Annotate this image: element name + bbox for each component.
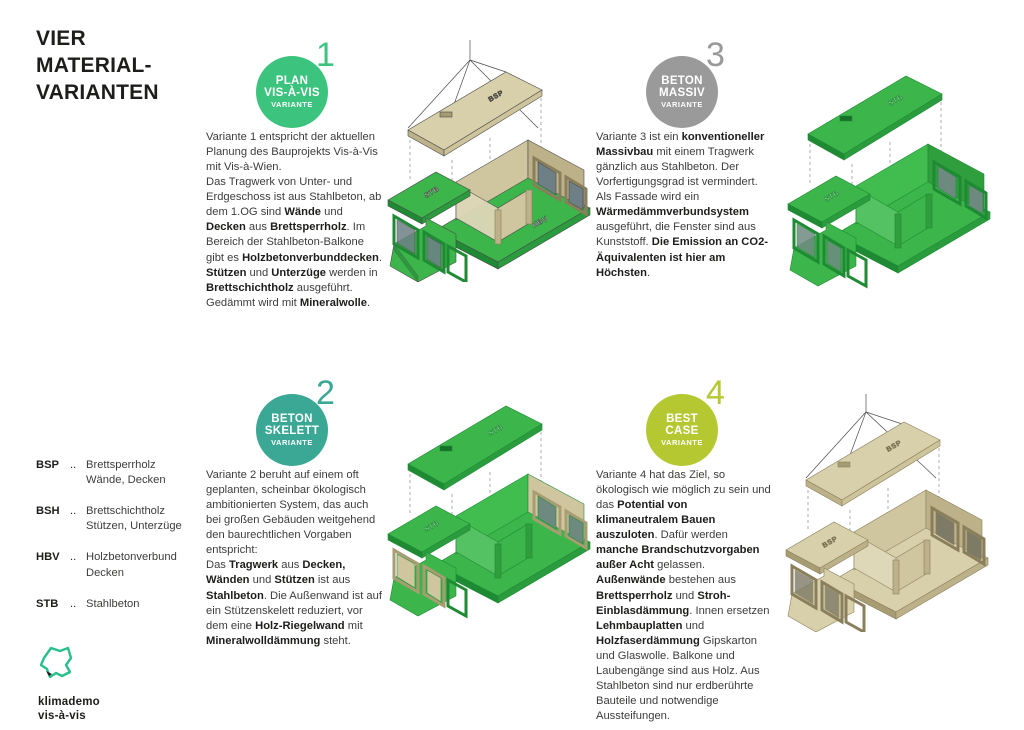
legend-row: BSH .. Brettschichtholz Stützen, Unterzü…: [36, 504, 216, 534]
legend-desc: Holzbetonverbund Decken: [86, 550, 177, 580]
variant-number-2: 2: [316, 376, 335, 410]
infographic-page: VIER MATERIAL- VARIANTEN PLAN VIS-À-VIS …: [0, 0, 1024, 730]
paragraph: Variante 2 beruht auf einem oft geplante…: [206, 468, 382, 558]
variant-number-4: 4: [706, 376, 725, 410]
legend-row: STB .. Stahlbeton: [36, 597, 216, 612]
paragraph: Variante 1 entspricht der aktuellen Plan…: [206, 130, 382, 175]
isometric-drawing-variant-3: STB: [778, 72, 1018, 292]
logo[interactable]: klimademo vis-à-vis: [38, 645, 178, 724]
badge-line2: CASE: [665, 425, 698, 437]
variant-number-1: 1: [316, 38, 335, 72]
legend-abbr: STB: [36, 597, 70, 612]
isometric-drawing-variant-2: STB: [378, 402, 618, 622]
variant-text-1: Variante 1 entspricht der aktuellen Plan…: [206, 130, 382, 311]
badge-line1: BEST: [666, 413, 698, 425]
legend-dots: ..: [70, 458, 86, 488]
legend-row: HBV .. Holzbetonverbund Decken: [36, 550, 216, 580]
legend-abbr: BSH: [36, 504, 70, 534]
badge-line3: VARIANTE: [271, 439, 313, 447]
badge-line3: VARIANTE: [661, 101, 703, 109]
variant-text-2: Variante 2 beruht auf einem oft geplante…: [206, 468, 382, 649]
variant-number-3: 3: [706, 38, 725, 72]
isometric-drawing-variant-4: BSP: [770, 392, 1020, 632]
klimademo-polygon-icon: [38, 645, 78, 687]
badge-line1: PLAN: [276, 75, 309, 87]
paragraph: Außenwände bestehen aus Brettsperrholz u…: [596, 573, 772, 724]
legend-desc: Brettschichtholz Stützen, Unterzüge: [86, 504, 182, 534]
badge-line2: SKELETT: [265, 425, 320, 437]
badge-line1: BETON: [271, 413, 313, 425]
legend-dots: ..: [70, 597, 86, 612]
legend-dots: ..: [70, 504, 86, 534]
legend-dots: ..: [70, 550, 86, 580]
paragraph: Variante 4 hat das Ziel, so ökologisch w…: [596, 468, 772, 573]
paragraph: Variante 3 ist ein konventioneller Massi…: [596, 130, 772, 281]
badge-line2: VIS-À-VIS: [264, 87, 320, 99]
legend-row: BSP .. Brettsperrholz Wände, Decken: [36, 458, 216, 488]
variant-text-3: Variante 3 ist ein konventioneller Massi…: [596, 130, 772, 281]
legend-desc: Stahlbeton: [86, 597, 140, 612]
abbreviation-legend: BSP .. Brettsperrholz Wände, Decken BSH …: [36, 458, 216, 628]
badge-line3: VARIANTE: [271, 101, 313, 109]
badge-line1: BETON: [661, 75, 703, 87]
variant-badge-wrap-4: BEST CASE VARIANTE 4: [638, 380, 758, 476]
variant-badge-wrap-3: BETON MASSIV VARIANTE 3: [638, 42, 758, 138]
paragraph: Das Tragwerk von Unter- und Erdgeschoss …: [206, 175, 382, 311]
logo-text: klimademo vis-à-vis: [38, 695, 178, 724]
page-title: VIER MATERIAL- VARIANTEN: [36, 26, 256, 107]
variant-badge-wrap-1: PLAN VIS-À-VIS VARIANTE 1: [248, 42, 368, 138]
badge-line3: VARIANTE: [661, 439, 703, 447]
variant-text-4: Variante 4 hat das Ziel, so ökologisch w…: [596, 468, 772, 724]
legend-abbr: BSP: [36, 458, 70, 488]
legend-desc: Brettsperrholz Wände, Decken: [86, 458, 166, 488]
paragraph: Das Tragwerk aus Decken, Wänden und Stüt…: [206, 558, 382, 648]
legend-abbr: HBV: [36, 550, 70, 580]
isometric-drawing-variant-1: BSP HBV: [378, 32, 618, 282]
variant-badge-wrap-2: BETON SKELETT VARIANTE 2: [248, 380, 368, 476]
badge-line2: MASSIV: [659, 87, 705, 99]
